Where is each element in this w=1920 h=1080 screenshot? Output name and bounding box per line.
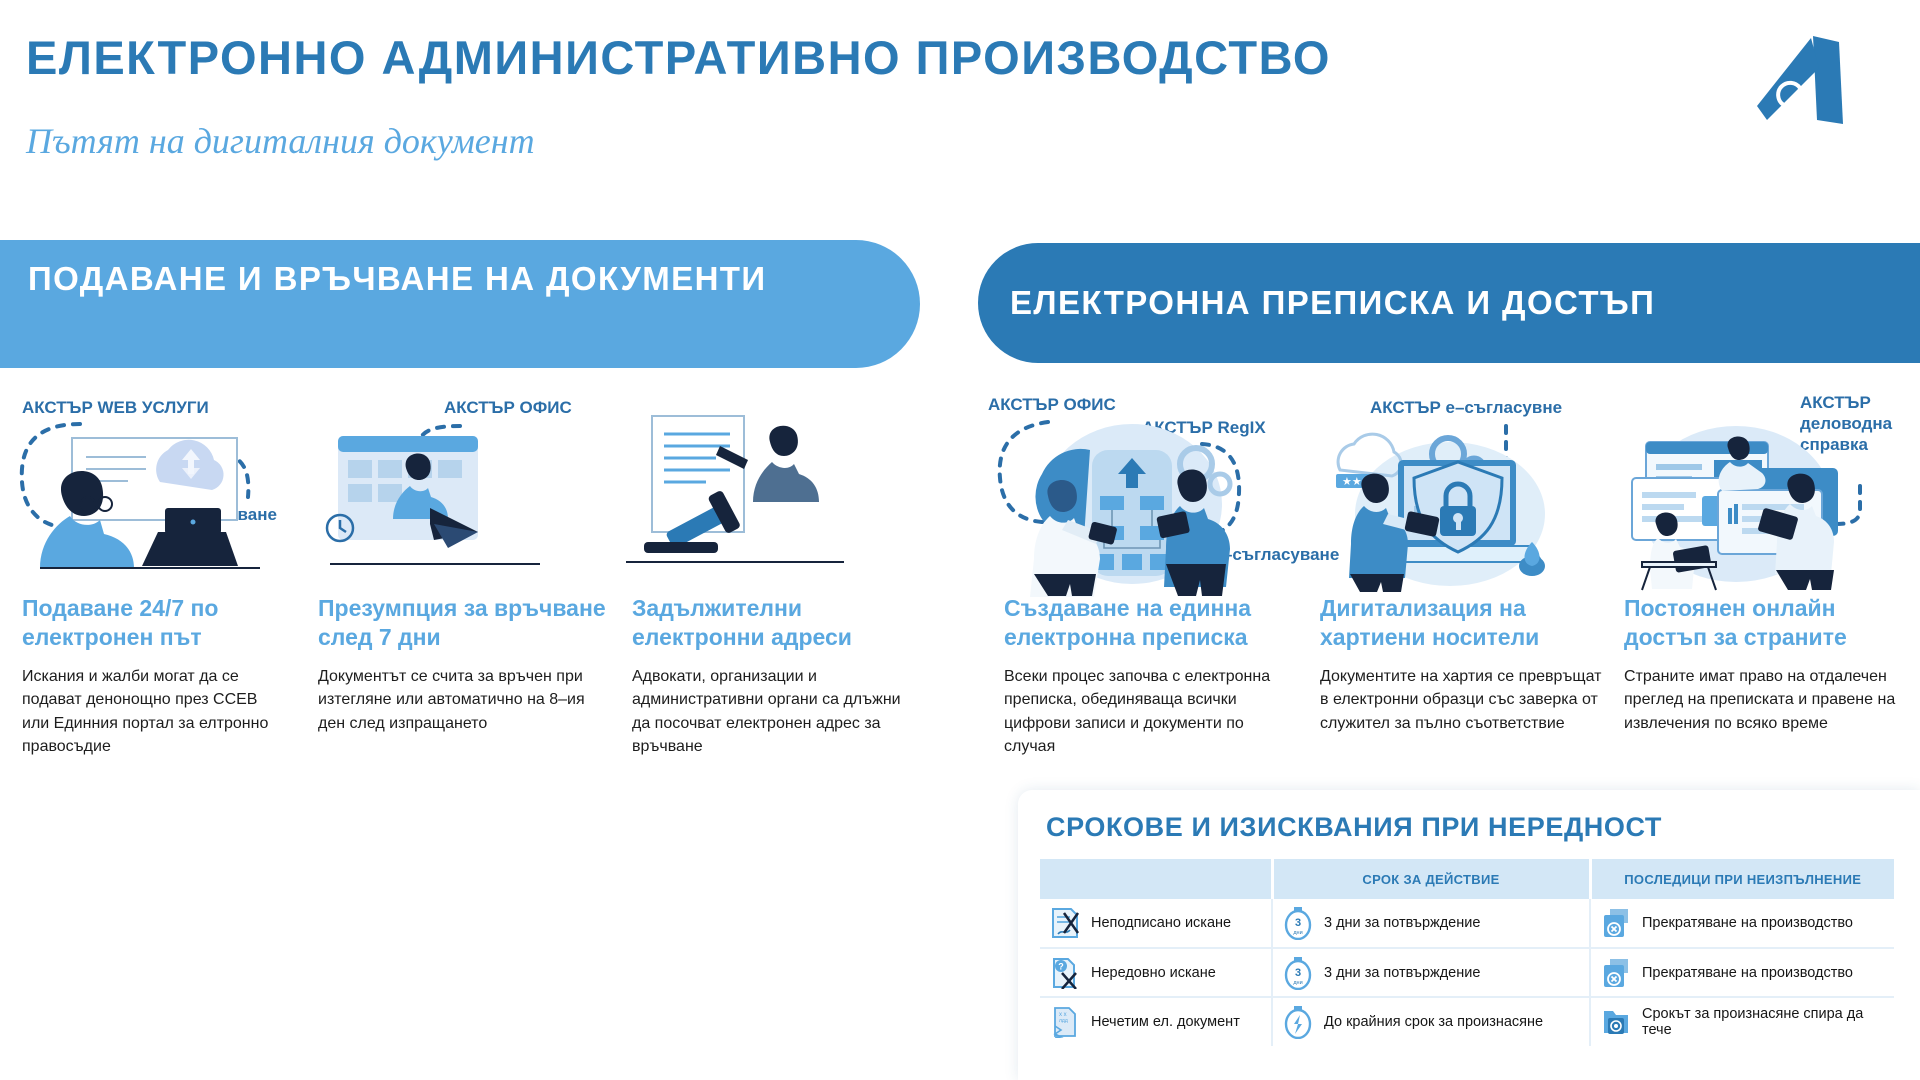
table-row: ? Нередовно искане 3дни 3 дни за потвърж… xyxy=(1040,948,1894,997)
table-header-deadline: СРОК ЗА ДЕЙСТВИЕ xyxy=(1272,859,1590,899)
column-body: Всеки процес започва с електронна препис… xyxy=(1004,665,1284,759)
folder-pause-icon xyxy=(1599,1005,1633,1039)
table-header-consequence: ПОСЛЕДИЦИ ПРИ НЕИЗПЪЛНЕНИЕ xyxy=(1590,859,1894,899)
table-header-issue xyxy=(1040,859,1272,899)
table-row: x xлдд Нечетим ел. документ До крайния с… xyxy=(1040,997,1894,1046)
svg-text:?: ? xyxy=(1058,961,1064,971)
cell-deadline: До крайния срок за произнасяне xyxy=(1272,997,1590,1046)
cell-issue: Неподписано искане xyxy=(1040,899,1272,948)
deadlines-table-card: СРОКОВЕ И ИЗИСКВАНИЯ ПРИ НЕРЕДНОСТ СРОК … xyxy=(1018,790,1920,1080)
documents-cancel-icon xyxy=(1599,906,1633,940)
consequence-label: Прекратяване на производство xyxy=(1642,915,1853,931)
tag-akstar-e-approval-2: АКСТЪР е–съгласувне xyxy=(1370,398,1562,418)
issue-label: Нередовно искане xyxy=(1091,965,1216,981)
column-title: Постоянен онлайн достъп за страните xyxy=(1624,594,1914,653)
question-document-icon: ? xyxy=(1048,956,1082,990)
column-title: Задължителни електронни адреси xyxy=(632,594,912,653)
table-header-row: СРОК ЗА ДЕЙСТВИЕ ПОСЛЕДИЦИ ПРИ НЕИЗПЪЛНЕ… xyxy=(1040,859,1894,899)
banner-e-correspondence: ЕЛЕКТРОННА ПРЕПИСКА И ДОСТЪП xyxy=(978,243,1920,363)
cell-deadline: 3дни 3 дни за потвърждение xyxy=(1272,948,1590,997)
illustration-gavel-document-lawyer xyxy=(620,400,850,570)
illustration-woman-at-laptop-cloud-upload xyxy=(10,412,300,572)
illustration-man-laptop-shield-lock: ★★★★ xyxy=(1310,418,1590,593)
column-body: Документът се счита за връчен при изтегл… xyxy=(318,665,608,736)
page-header: ЕЛЕКТРОННО АДМИНИСТРАТИВНО ПРОИЗВОДСТВО … xyxy=(0,0,1920,185)
table-row: Неподписано искане 3дни 3 дни за потвърж… xyxy=(1040,899,1894,948)
svg-text:3: 3 xyxy=(1295,917,1301,929)
column-title: Дигитализация на хартиени носители xyxy=(1320,594,1610,653)
stopwatch-pause-icon xyxy=(1281,1005,1315,1039)
column-single-e-file: Създаване на единна електронна преписка … xyxy=(1004,594,1284,759)
column-permanent-online-access: Постоянен онлайн достъп за страните Стра… xyxy=(1624,594,1914,735)
svg-text:3: 3 xyxy=(1295,967,1301,979)
deadlines-table: СРОК ЗА ДЕЙСТВИЕ ПОСЛЕДИЦИ ПРИ НЕИЗПЪЛНЕ… xyxy=(1040,859,1894,1046)
akstar-a-logo xyxy=(1755,28,1865,138)
table-title: СРОКОВЕ И ИЗИСКВАНИЯ ПРИ НЕРЕДНОСТ xyxy=(1018,812,1920,859)
cell-consequence: Прекратяване на производство xyxy=(1590,899,1894,948)
cell-consequence: Прекратяване на производство xyxy=(1590,948,1894,997)
column-presumption-7-days: Презумпция за връчване след 7 дни Докуме… xyxy=(318,594,608,735)
page-subtitle: Пътят на дигиталния документ xyxy=(26,120,535,162)
banner-submission: ПОДАВАНЕ И ВРЪЧВАНЕ НА ДОКУМЕНТИ xyxy=(0,240,920,368)
column-mandatory-e-addresses: Задължителни електронни адреси Адвокати,… xyxy=(632,594,912,759)
column-title: Подаване 24/7 по електронен път xyxy=(22,594,272,653)
column-body: Страните имат право на отдалечен преглед… xyxy=(1624,665,1914,736)
deadline-label: 3 дни за потвърждение xyxy=(1324,915,1480,931)
column-body: Искания и жалби могат да се подават дено… xyxy=(22,665,272,759)
corrupted-document-icon: x xлдд xyxy=(1048,1005,1082,1039)
stopwatch-3-days-icon: 3дни xyxy=(1281,906,1315,940)
svg-text:дни: дни xyxy=(1293,930,1302,936)
page-title: ЕЛЕКТРОННО АДМИНИСТРАТИВНО ПРОИЗВОДСТВО xyxy=(26,30,1331,85)
issue-label: Нечетим ел. документ xyxy=(1091,1014,1240,1030)
consequence-label: Прекратяване на производство xyxy=(1642,965,1853,981)
cell-issue: x xлдд Нечетим ел. документ xyxy=(1040,997,1272,1046)
cell-issue: ? Нередовно искане xyxy=(1040,948,1272,997)
column-title: Създаване на единна електронна преписка xyxy=(1004,594,1284,653)
cell-deadline: 3дни 3 дни за потвърждение xyxy=(1272,899,1590,948)
column-submission-247: Подаване 24/7 по електронен път Искания … xyxy=(22,594,272,759)
documents-cancel-icon xyxy=(1599,956,1633,990)
consequence-label: Срокът за произнасяне спира да тече xyxy=(1642,1006,1894,1038)
deadline-label: 3 дни за потвърждение xyxy=(1324,965,1480,981)
stopwatch-3-days-icon: 3дни xyxy=(1281,956,1315,990)
svg-text:лдд: лдд xyxy=(1059,1018,1068,1024)
illustration-two-people-flowchart-documents xyxy=(982,412,1282,597)
svg-text:дни: дни xyxy=(1293,980,1302,986)
column-title: Презумпция за връчване след 7 дни xyxy=(318,594,608,653)
column-body: Документите на хартия се превръщат в еле… xyxy=(1320,665,1610,736)
illustration-people-screens-remote-access xyxy=(1612,412,1872,592)
issue-label: Неподписано искане xyxy=(1091,915,1231,931)
column-body: Адвокати, организации и административни … xyxy=(632,665,912,759)
deadline-label: До крайния срок за произнасяне xyxy=(1324,1014,1543,1030)
unsigned-document-icon xyxy=(1048,906,1082,940)
column-paper-digitization: Дигитализация на хартиени носители Докум… xyxy=(1320,594,1610,735)
illustration-person-calendar-paper-plane xyxy=(310,412,570,572)
cell-consequence: Срокът за произнасяне спира да тече xyxy=(1590,997,1894,1046)
